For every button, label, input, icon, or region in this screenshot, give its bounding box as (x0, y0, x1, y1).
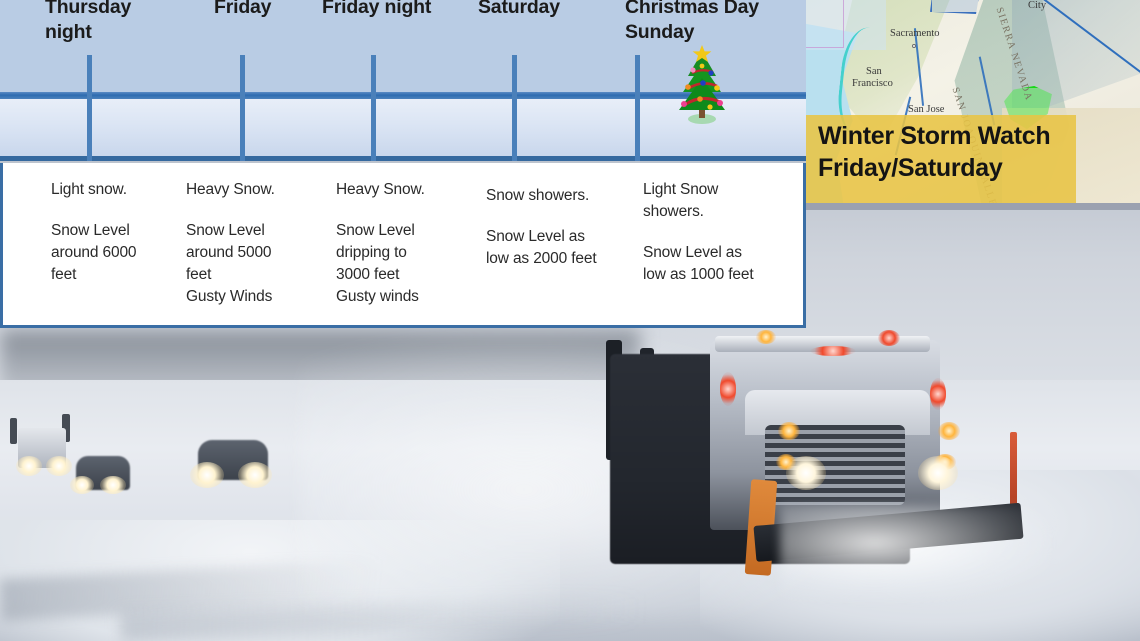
map-label-san-jose: San Jose (908, 104, 944, 115)
forecast-headline: Heavy Snow. (336, 179, 481, 201)
timeline-tick-saturday (512, 55, 517, 161)
watch-banner-timing: Friday/Saturday (818, 152, 1076, 184)
forecast-headline: Heavy Snow. (186, 179, 331, 201)
forecast-column-thursday-night: Light snow. Snow Level around 6000 feet (51, 179, 191, 286)
timeline-tick-thursday-night (87, 55, 92, 161)
forecast-detail-line: Snow Level as (486, 226, 638, 248)
watch-banner-title: Winter Storm Watch (818, 120, 1076, 152)
forecast-headline: Snow showers. (486, 185, 638, 207)
forecast-detail-line: Snow Level as (643, 242, 783, 264)
forecast-detail-line: Snow Level (51, 220, 191, 242)
map-purple-zone-line (806, 0, 844, 48)
forecast-column-friday: Heavy Snow. Snow Level around 5000 feet … (186, 179, 331, 308)
timeline-label-friday: Friday (214, 0, 271, 20)
timeline-tick-friday (240, 55, 245, 161)
map-label-francisco: Francisco (852, 78, 893, 89)
forecast-detail-line: Gusty Winds (186, 286, 331, 308)
forecast-detail-line: Snow Level (186, 220, 331, 242)
map-label-city: City (1028, 0, 1046, 11)
timeline-tick-friday-night (371, 55, 376, 161)
forecast-detail-line: feet (186, 264, 331, 286)
forecast-detail-line: Snow Level (336, 220, 481, 242)
map-bottom-edge (806, 203, 1140, 210)
forecast-column-christmas-day: Light Snow showers. Snow Level as low as… (643, 179, 783, 286)
timeline-label-thursday-night: Thursday night (45, 0, 131, 45)
forecast-headline: Light snow. (51, 179, 191, 201)
forecast-detail-line: Gusty winds (336, 286, 481, 308)
forecast-detail-line: around 5000 (186, 242, 331, 264)
forecast-text-panel: Light snow. Snow Level around 6000 feet … (0, 163, 806, 328)
forecast-detail-line: low as 2000 feet (486, 248, 638, 270)
map-label-sacramento: Sacramento (890, 28, 940, 39)
forecast-detail-line: low as 1000 feet (643, 264, 783, 286)
map-label-san: San (866, 66, 882, 77)
forecast-detail-line: around 6000 (51, 242, 191, 264)
snowplow-truck (600, 330, 1030, 595)
forecast-headline: Light Snow showers. (643, 179, 783, 223)
timeline-label-friday-night: Friday night (322, 0, 431, 20)
map-blue-zone-polygon (930, 0, 980, 14)
weather-graphic: Thursday night Friday Friday night Satur… (0, 0, 1140, 641)
map-city-dot (912, 44, 916, 48)
forecast-column-saturday: Snow showers. Snow Level as low as 2000 … (486, 185, 638, 270)
forecast-detail-line: 3000 feet (336, 264, 481, 286)
forecast-detail-line: feet (51, 264, 191, 286)
timeline-label-christmas-day: Christmas Day Sunday (625, 0, 759, 45)
christmas-tree-icon (676, 42, 728, 126)
forecast-column-friday-night: Heavy Snow. Snow Level dripping to 3000 … (336, 179, 481, 308)
winter-storm-watch-banner: Winter Storm Watch Friday/Saturday (806, 115, 1076, 203)
forecast-detail-line: dripping to (336, 242, 481, 264)
timeline-tick-christmas-day (635, 55, 640, 161)
forecast-timeline-graphic: Thursday night Friday Friday night Satur… (0, 0, 806, 328)
timeline-label-saturday: Saturday (478, 0, 560, 20)
